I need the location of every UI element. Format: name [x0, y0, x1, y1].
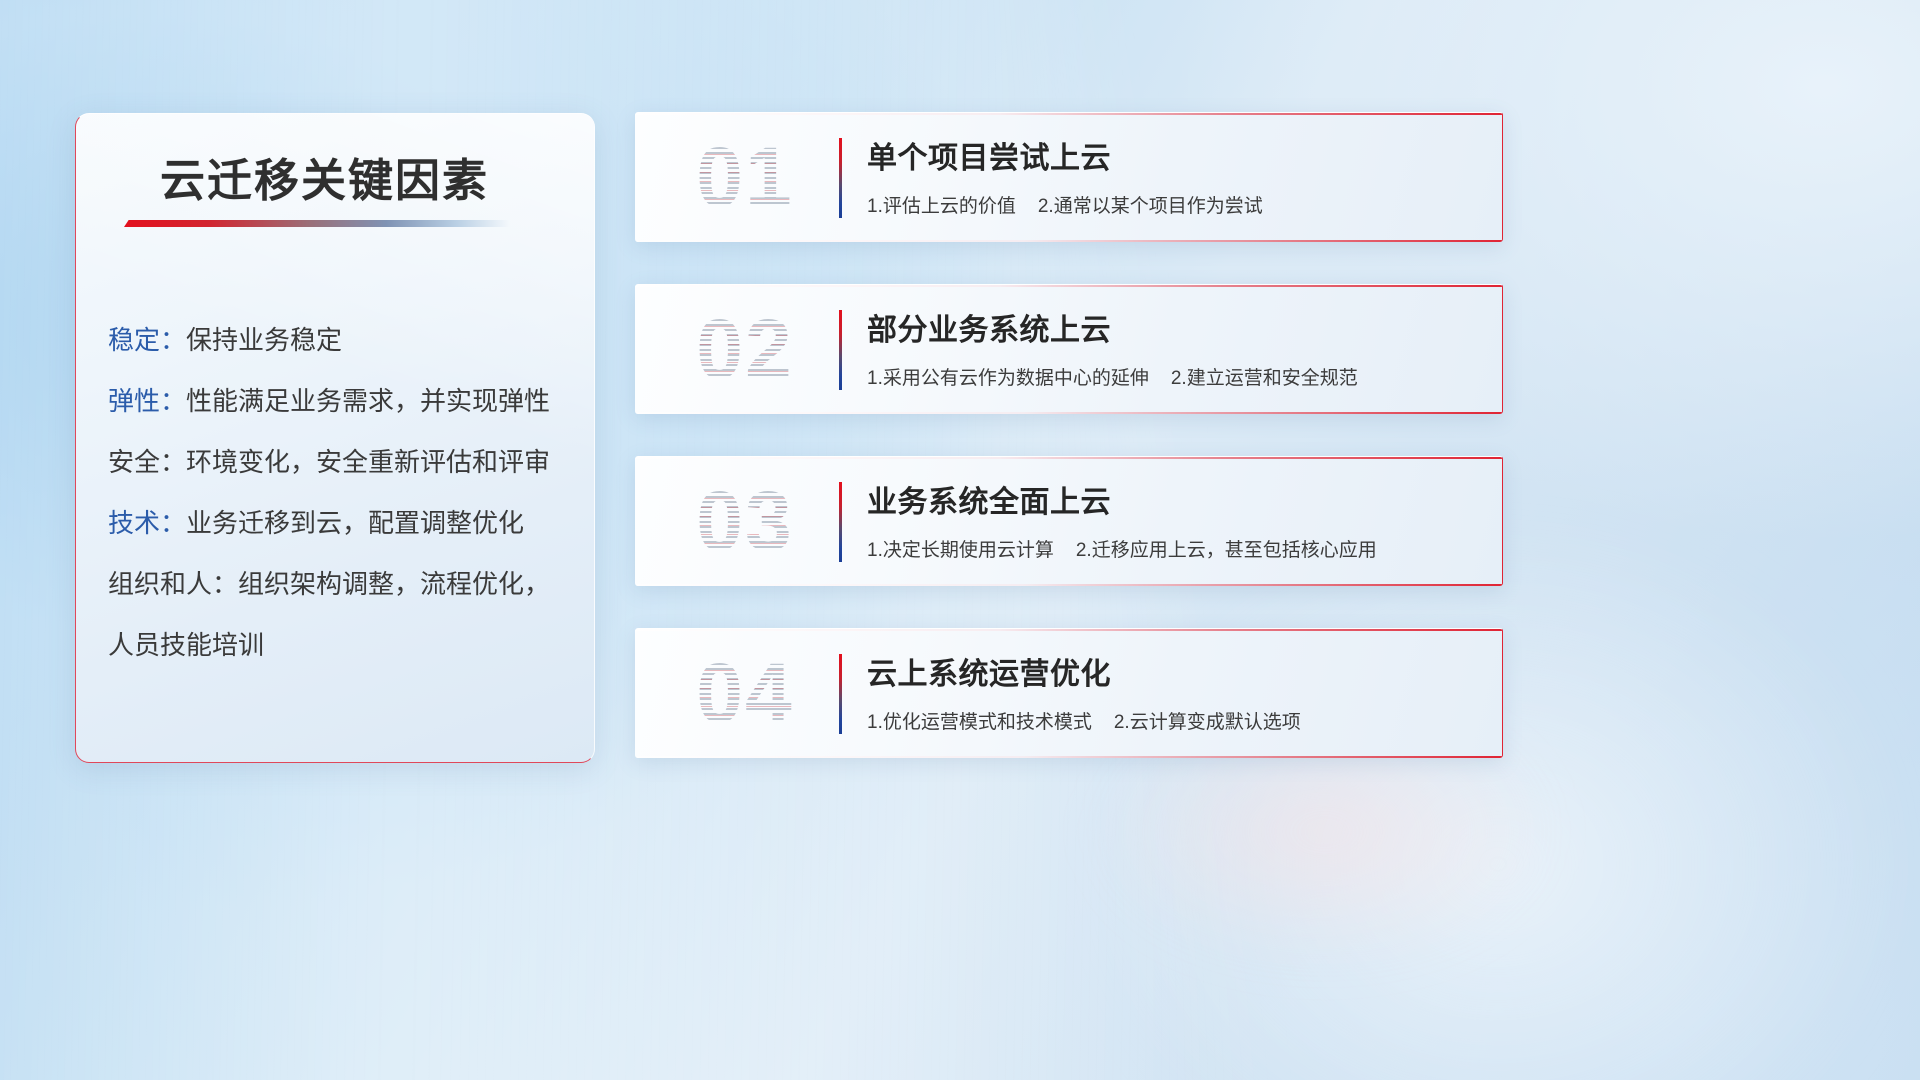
step-title: 云上系统运营优化: [867, 649, 1111, 693]
factor-key: 组织和人：: [108, 569, 238, 599]
title-underline-rule: [124, 220, 510, 227]
step-divider-bar: [839, 310, 842, 390]
list-item: 弹性：性能满足业务需求，并实现弹性: [108, 371, 578, 432]
factor-text: 人员技能培训: [108, 630, 264, 660]
step-point-2: 2.云计算变成默认选项: [1114, 712, 1301, 733]
step-number-watermark-overlay: 01: [665, 127, 825, 227]
step-point-1: 1.评估上云的价值: [867, 196, 1016, 217]
key-factors-list: 稳定：保持业务稳定 弹性：性能满足业务需求，并实现弹性 安全：环境变化，安全重新…: [108, 310, 578, 676]
slide-canvas: 云迁移关键因素 稳定：保持业务稳定 弹性：性能满足业务需求，并实现弹性 安全：环…: [0, 0, 1920, 1080]
factor-key: 稳定：: [108, 325, 186, 355]
step-point-2: 2.迁移应用上云，甚至包括核心应用: [1076, 540, 1377, 561]
step-point-1: 1.决定长期使用云计算: [867, 540, 1054, 561]
step-card-03[interactable]: 03 03 业务系统全面上云 1.决定长期使用云计算2.迁移应用上云，甚至包括核…: [635, 456, 1503, 586]
step-number-watermark-overlay: 04: [665, 643, 825, 743]
factor-key: 安全：: [108, 447, 186, 477]
step-card-01[interactable]: 01 01 单个项目尝试上云 1.评估上云的价值2.通常以某个项目作为尝试: [635, 112, 1503, 242]
step-title: 部分业务系统上云: [867, 305, 1111, 349]
factor-text: 性能满足业务需求，并实现弹性: [186, 386, 550, 416]
step-divider-bar: [839, 482, 842, 562]
list-item: 人员技能培训: [108, 615, 578, 676]
page-title: 云迁移关键因素: [160, 144, 560, 209]
list-item: 技术：业务迁移到云，配置调整优化: [108, 493, 578, 554]
step-point-2: 2.通常以某个项目作为尝试: [1038, 196, 1263, 217]
step-card-02[interactable]: 02 02 部分业务系统上云 1.采用公有云作为数据中心的延伸2.建立运营和安全…: [635, 284, 1503, 414]
list-item: 稳定：保持业务稳定: [108, 310, 578, 371]
migration-steps-list: 01 01 单个项目尝试上云 1.评估上云的价值2.通常以某个项目作为尝试 02…: [635, 112, 1503, 800]
step-subtitle: 1.决定长期使用云计算2.迁移应用上云，甚至包括核心应用: [867, 535, 1377, 562]
step-number-watermark-overlay: 02: [665, 299, 825, 399]
list-item: 组织和人：组织架构调整，流程优化，: [108, 554, 578, 615]
step-subtitle: 1.优化运营模式和技术模式2.云计算变成默认选项: [867, 707, 1301, 734]
factor-text: 组织架构调整，流程优化，: [238, 569, 550, 599]
step-divider-bar: [839, 138, 842, 218]
step-title: 单个项目尝试上云: [867, 133, 1111, 177]
step-point-2: 2.建立运营和安全规范: [1171, 368, 1358, 389]
step-title: 业务系统全面上云: [867, 477, 1111, 521]
factor-text: 业务迁移到云，配置调整优化: [186, 508, 524, 538]
key-factors-panel: 云迁移关键因素 稳定：保持业务稳定 弹性：性能满足业务需求，并实现弹性 安全：环…: [75, 113, 595, 763]
step-subtitle: 1.采用公有云作为数据中心的延伸2.建立运营和安全规范: [867, 363, 1358, 390]
step-card-04[interactable]: 04 04 云上系统运营优化 1.优化运营模式和技术模式2.云计算变成默认选项: [635, 628, 1503, 758]
step-subtitle: 1.评估上云的价值2.通常以某个项目作为尝试: [867, 191, 1263, 218]
factor-text: 环境变化，安全重新评估和评审: [186, 447, 550, 477]
step-divider-bar: [839, 654, 842, 734]
step-point-1: 1.采用公有云作为数据中心的延伸: [867, 368, 1149, 389]
step-point-1: 1.优化运营模式和技术模式: [867, 712, 1092, 733]
factor-key: 技术：: [108, 508, 186, 538]
list-item: 安全：环境变化，安全重新评估和评审: [108, 432, 578, 493]
factor-key: 弹性：: [108, 386, 186, 416]
factor-text: 保持业务稳定: [186, 325, 342, 355]
step-number-watermark-overlay: 03: [665, 471, 825, 571]
